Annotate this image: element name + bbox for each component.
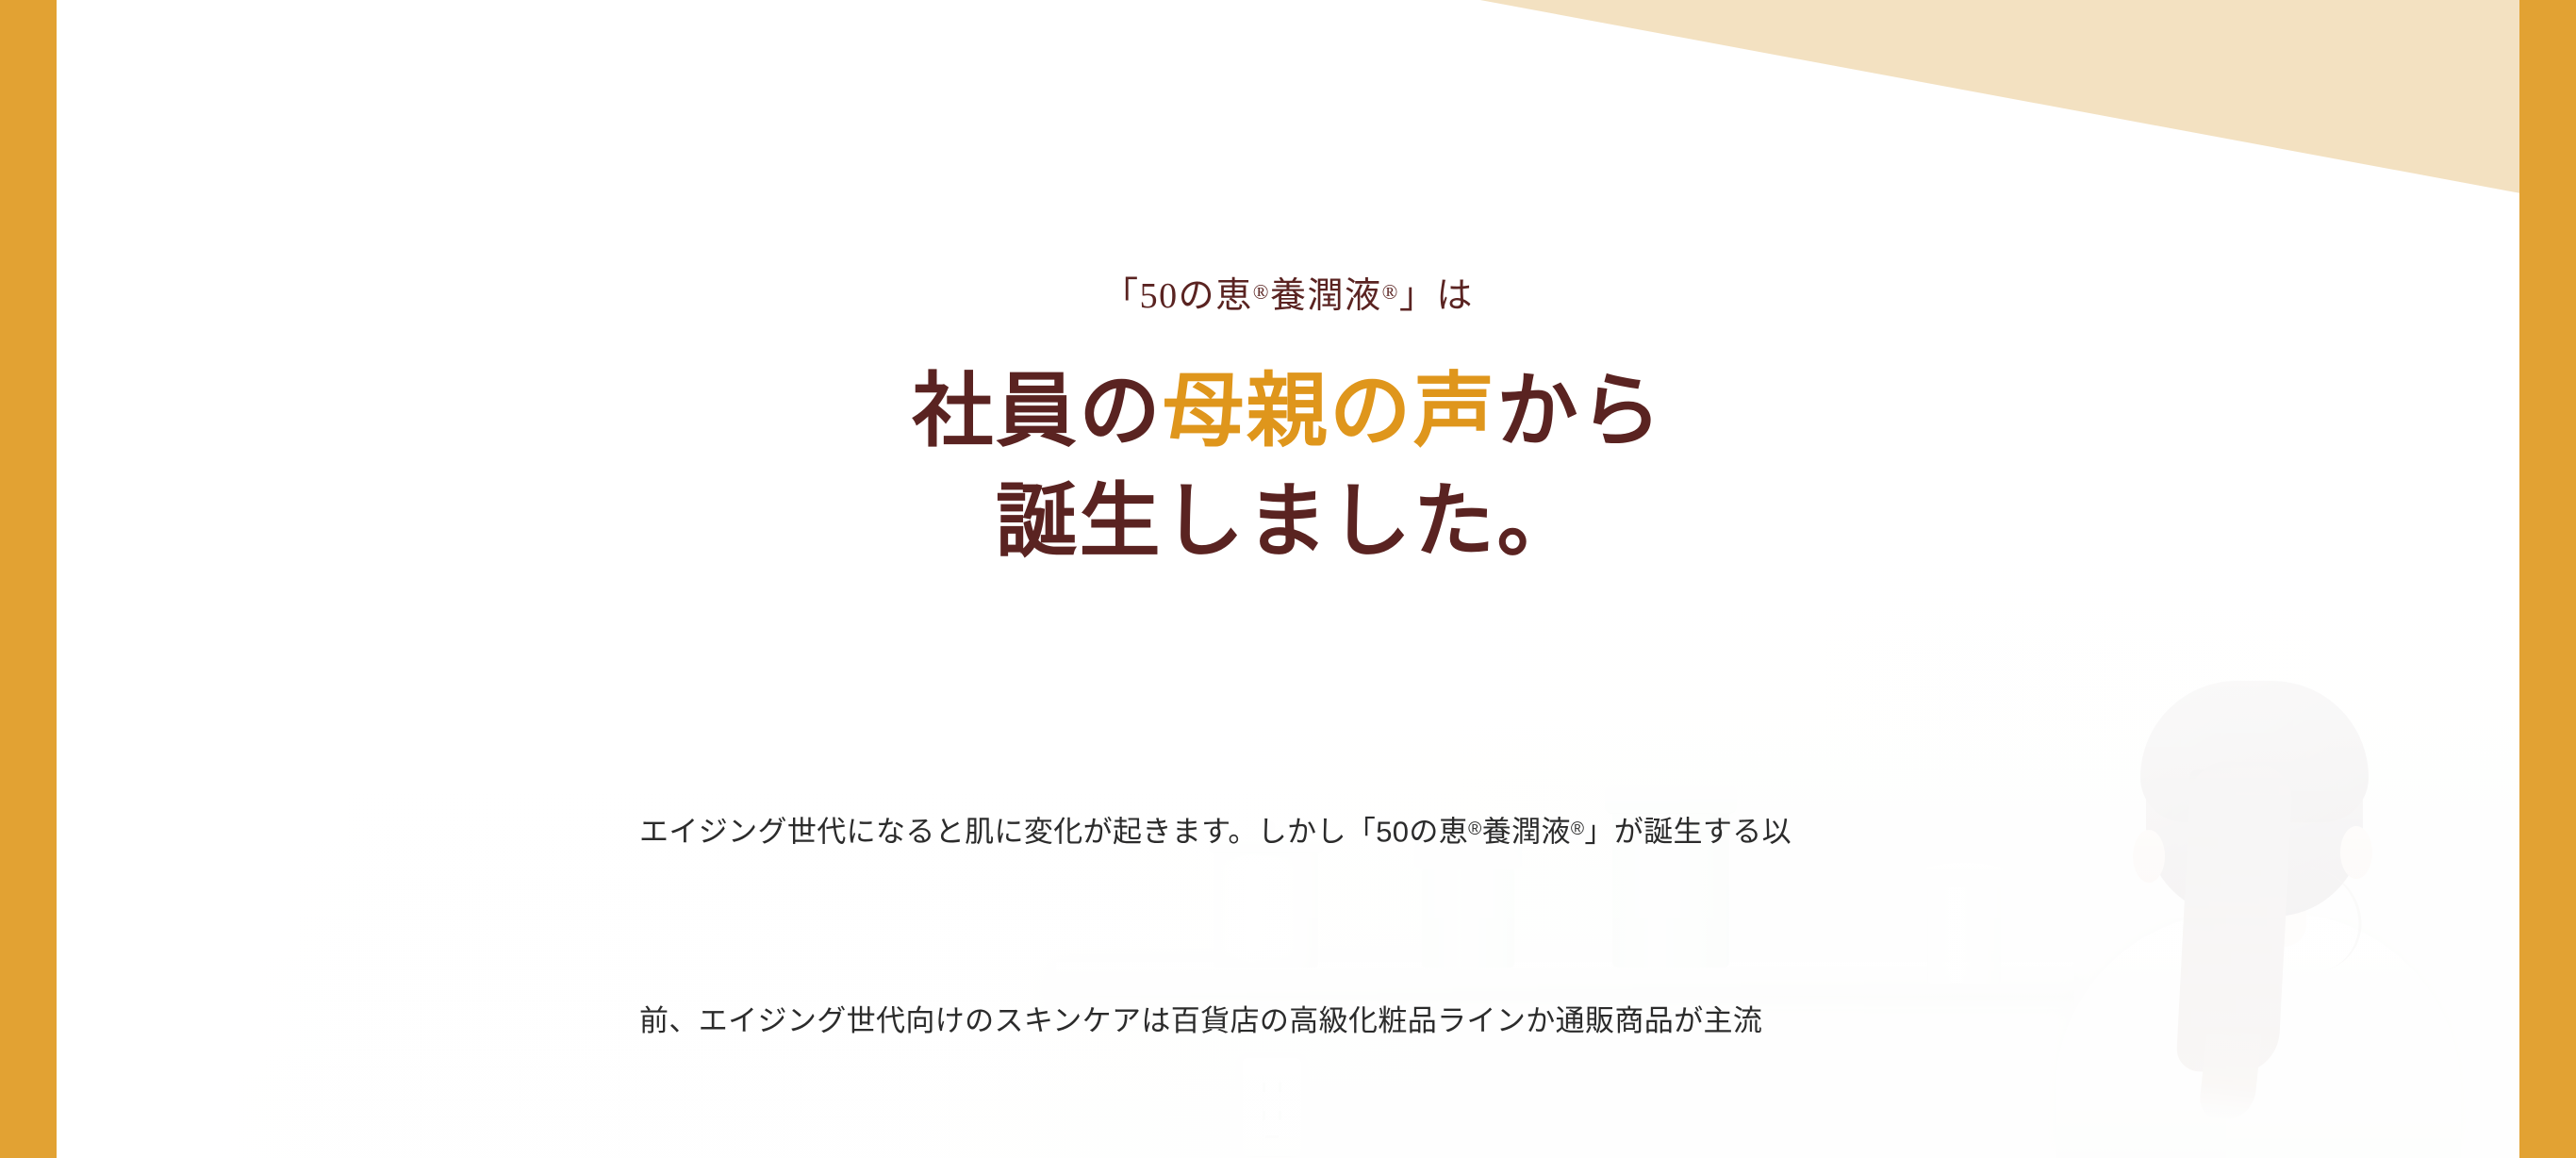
hero-content: 「50の恵®養潤液®」は 社員の母親の声から 誕生しました。 エイジング世代にな… (0, 0, 2576, 1158)
page-title: 社員の母親の声から 誕生しました。 (0, 356, 2576, 577)
body-line-2: 前、エイジング世代向けのスキンケアは百貨店の高級化粧品ラインか通販商品が主流 (639, 1004, 1762, 1037)
registered-mark-icon: ® (1468, 819, 1482, 839)
registered-mark-icon: ® (1382, 280, 1399, 304)
headline-line-1: 社員の母親の声から (0, 356, 2576, 467)
eyebrow-text: 「50の恵®養潤液®」は (0, 266, 2576, 318)
eyebrow-suffix: 」は (1399, 276, 1474, 316)
headline-part-b: から (1496, 366, 1663, 456)
body-line-1-a: エイジング世代になると肌に変化が起きます。しかし「50の恵 (639, 816, 1468, 849)
body-line-1-c: 」が誕生する以 (1584, 816, 1792, 849)
headline-accent: 母親の声 (1163, 366, 1496, 456)
registered-mark-icon: ® (1253, 280, 1270, 304)
eyebrow-middle: 養潤液 (1270, 276, 1382, 316)
body-paragraph: エイジング世代になると肌に変化が起きます。しかし「50の恵®養潤液®」が誕生する… (639, 688, 1959, 1158)
registered-mark-icon: ® (1571, 819, 1585, 839)
body-line-1-b: 養潤液 (1482, 816, 1571, 849)
headline-part-a: 社員の (912, 366, 1163, 456)
headline-line-2: 誕生しました。 (0, 467, 2576, 577)
hero-section: 「50の恵®養潤液®」は 社員の母親の声から 誕生しました。 エイジング世代にな… (0, 0, 2576, 1158)
eyebrow-prefix: 「50の恵 (1102, 276, 1253, 316)
